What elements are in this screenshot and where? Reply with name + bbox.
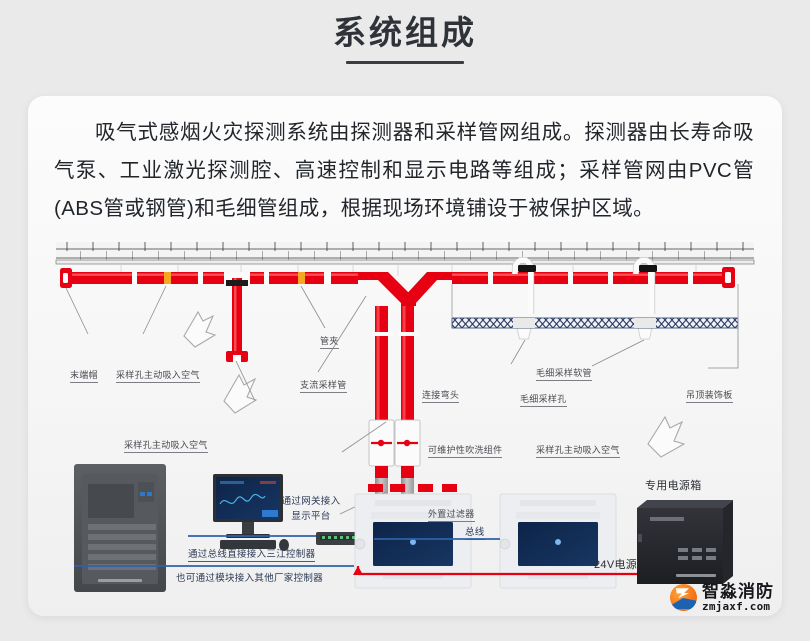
page-header: 系统组成 [0, 14, 810, 64]
label-external-filter: 外置过滤器 [428, 507, 475, 522]
label-blowdown-assembly: 可维护性吹洗组件 [428, 443, 502, 458]
diagram-graphics [28, 96, 782, 616]
page-title: 系统组成 [0, 14, 810, 52]
label-pipe-clamp: 管夹 [320, 334, 339, 349]
aspirating-detector-graphic [355, 484, 471, 588]
brand-logo-icon [670, 584, 697, 611]
power-supply-box-graphic [637, 500, 733, 584]
label-ceiling-panel: 吊顶装饰板 [686, 388, 733, 403]
label-sampling-hole-2: 采样孔主动吸入空气 [124, 438, 208, 453]
content-card: 吸气式感烟火灾探测系统由探测器和采样管网组成。探测器由长寿命吸气泵、工业激光探测… [28, 96, 782, 616]
fire-alarm-control-panel-graphic [74, 464, 166, 592]
airflow-arrow [184, 312, 684, 457]
brand-watermark: 智淼消防 zmjaxf.com [670, 583, 774, 612]
label-branch-sampling-pipe: 支流采样管 [300, 378, 347, 393]
main-sampling-pipe-right [452, 267, 735, 288]
brand-url: zmjaxf.com [702, 601, 774, 612]
label-bus-line: 总线 [465, 524, 485, 540]
title-underline [346, 61, 464, 64]
branch-sampling-pipe-graphic [224, 272, 250, 362]
label-sampling-hole-1: 采样孔主动吸入空气 [116, 368, 200, 383]
system-diagram: 末端帽 采样孔主动吸入空气 管夹 支流采样管 连接弯头 毛细采样软管 毛细采样孔… [28, 96, 782, 616]
brand-name: 智淼消防 [702, 583, 774, 600]
label-elbow-connector: 连接弯头 [422, 388, 459, 403]
label-power-supply-box: 专用电源箱 [645, 477, 702, 494]
label-bus-direct: 通过总线直接接入三江控制器 [188, 546, 315, 562]
ceiling-panel-graphic [452, 284, 738, 328]
label-end-cap: 末端帽 [70, 368, 98, 383]
label-capillary-hose: 毛细采样软管 [536, 366, 592, 381]
label-capillary-hole: 毛细采样孔 [520, 392, 567, 407]
label-module-other: 也可通过模块接入其他厂家控制器 [176, 570, 323, 585]
main-sampling-pipe-left [60, 268, 358, 288]
label-power-24v: 24V电源 [594, 556, 637, 573]
label-gateway-platform: 通过网关接入 显示平台 [271, 494, 351, 525]
label-sampling-hole-3: 采样孔主动吸入空气 [536, 443, 620, 458]
capillary-sampling-head [517, 328, 652, 339]
